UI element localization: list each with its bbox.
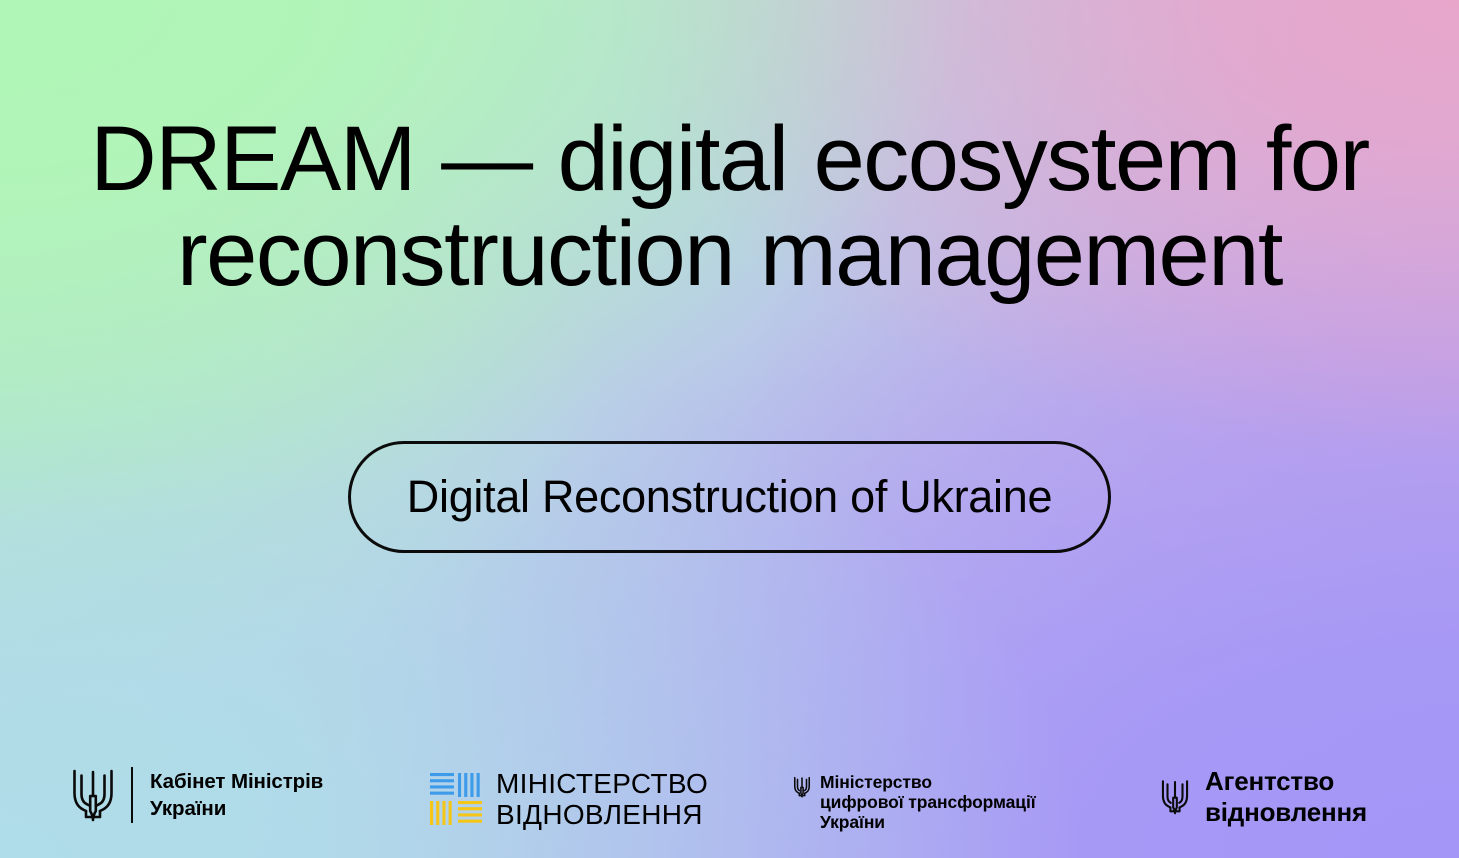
logo-line-2: відновлення [1205, 797, 1367, 828]
page-title: DREAM — digital ecosystem for reconstruc… [0, 112, 1459, 302]
logo-line-2: цифрової трансформації [820, 792, 1036, 812]
logo-ministry-of-restoration: МІНІСТЕРСТВО ВІДНОВЛЕННЯ [430, 768, 708, 830]
logo-restoration-agency: Агентство відновлення [1160, 766, 1367, 828]
logo-ministry-of-digital-transformation: Міністерство цифрової трансформації Укра… [793, 772, 1036, 832]
logo-cabinet-of-ministers-text: Кабінет Міністрів України [150, 768, 323, 822]
logo-line-3: України [820, 812, 1036, 832]
logo-bar: Кабінет Міністрів України [0, 756, 1459, 858]
ministry-restoration-stripes-icon [430, 773, 482, 825]
logo-line-1: Кабінет Міністрів [150, 768, 323, 795]
logo-line-1: Міністерство [820, 772, 1036, 792]
logo-ministry-of-restoration-text: МІНІСТЕРСТВО ВІДНОВЛЕННЯ [496, 768, 708, 830]
logo-divider [131, 767, 133, 823]
logo-restoration-agency-text: Агентство відновлення [1205, 766, 1367, 828]
presentation-slide: DREAM — digital ecosystem for reconstruc… [0, 0, 1459, 858]
logo-line-1: Агентство [1205, 766, 1367, 797]
ukraine-trident-icon [793, 775, 811, 799]
logo-ministry-of-digital-transformation-text: Міністерство цифрової трансформації Укра… [820, 772, 1036, 832]
subtitle-pill-label: Digital Reconstruction of Ukraine [407, 473, 1052, 521]
ukraine-trident-icon [70, 766, 116, 824]
logo-cabinet-of-ministers: Кабінет Міністрів України [70, 766, 323, 824]
headline-block: DREAM — digital ecosystem for reconstruc… [0, 112, 1459, 302]
subtitle-pill-wrapper: Digital Reconstruction of Ukraine [0, 441, 1459, 553]
logo-line-2: ВІДНОВЛЕННЯ [496, 799, 708, 830]
logo-line-2: України [150, 795, 323, 822]
ukraine-trident-icon [1160, 777, 1190, 817]
subtitle-pill: Digital Reconstruction of Ukraine [348, 441, 1111, 553]
logo-line-1: МІНІСТЕРСТВО [496, 768, 708, 799]
